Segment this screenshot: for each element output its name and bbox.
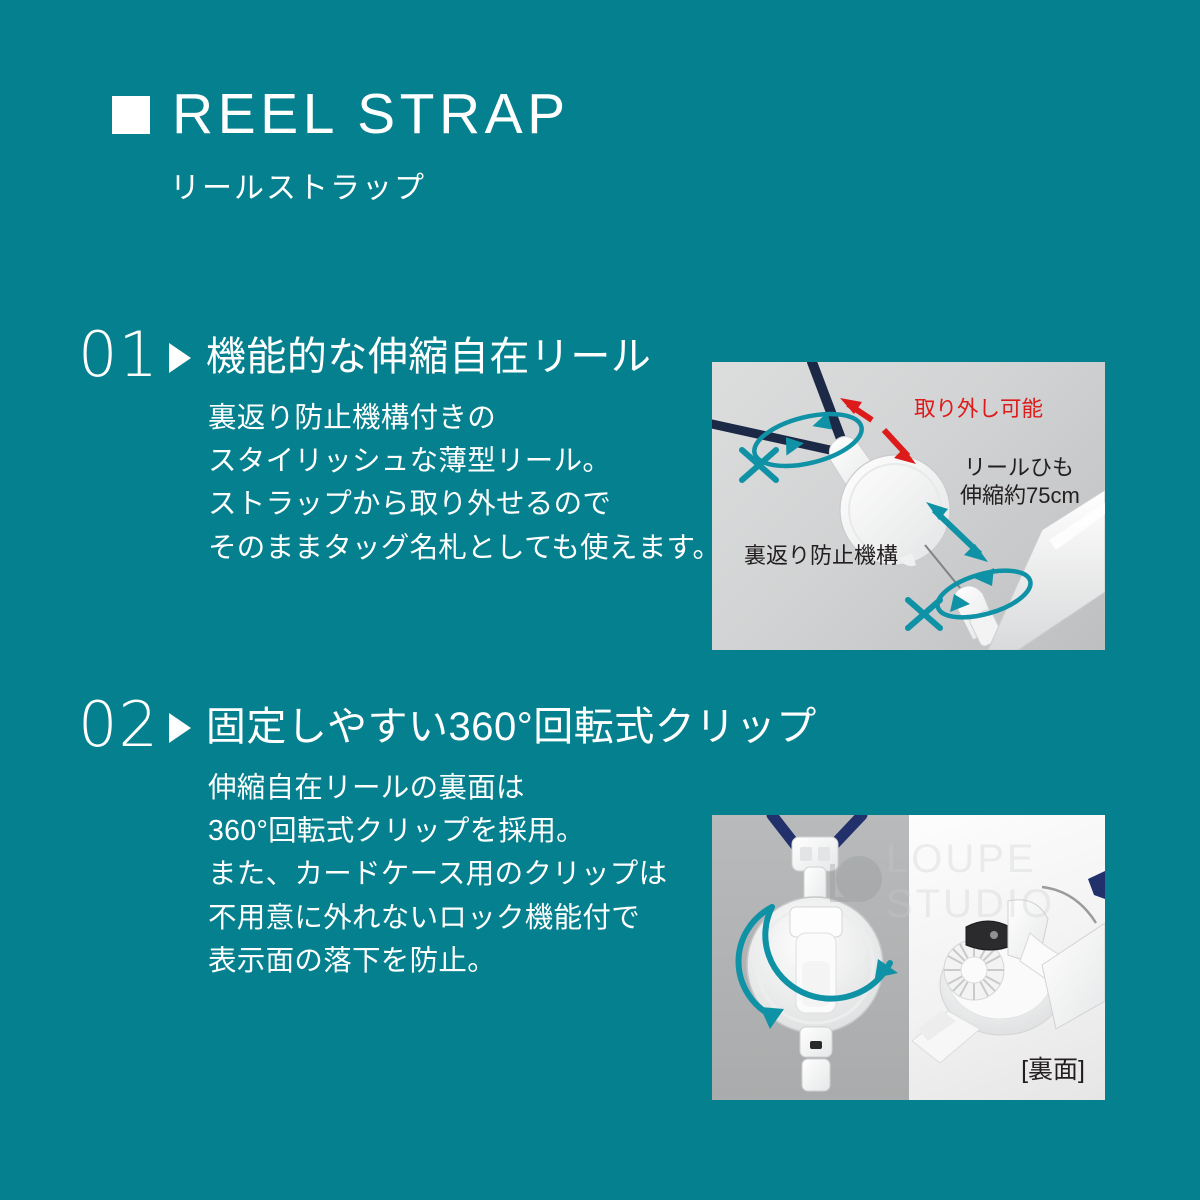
section-02-heading: 02 固定しやすい360°回転式クリップ	[0, 700, 1200, 751]
page-subtitle: リールストラップ	[170, 163, 570, 207]
filled-square-icon	[112, 96, 150, 134]
body-line: 伸縮自在リールの裏面は	[208, 767, 1200, 810]
page-title: REEL STRAP	[172, 86, 570, 143]
section-01-number: 01	[78, 330, 159, 381]
section-02-title: 固定しやすい360°回転式クリップ	[206, 707, 817, 747]
page-header: REEL STRAP リールストラップ	[112, 86, 570, 207]
reel-front-photo: 取り外し可能 リールひも 伸縮約75cm 裏返り防止機構	[712, 362, 1105, 650]
back-side-label: [裏面]	[1021, 1050, 1085, 1086]
callout-reel-length: 伸縮約75cm	[960, 482, 1080, 510]
clip-rotation-photo: LOUPE STUDIO [裏面]	[712, 815, 1105, 1100]
callout-reel-cord: リールひも	[964, 454, 1074, 482]
section-01-title: 機能的な伸縮自在リール	[206, 337, 652, 377]
callout-removable: 取り外し可能	[914, 396, 1043, 423]
play-triangle-icon	[169, 343, 191, 373]
section-02-number: 02	[78, 700, 159, 751]
clip-front-half	[712, 815, 909, 1100]
play-triangle-icon	[169, 713, 191, 743]
product-infographic: REEL STRAP リールストラップ 01 機能的な伸縮自在リール 裏返り防止…	[0, 0, 1200, 1200]
callout-anti-flip: 裏返り防止機構	[744, 542, 898, 570]
